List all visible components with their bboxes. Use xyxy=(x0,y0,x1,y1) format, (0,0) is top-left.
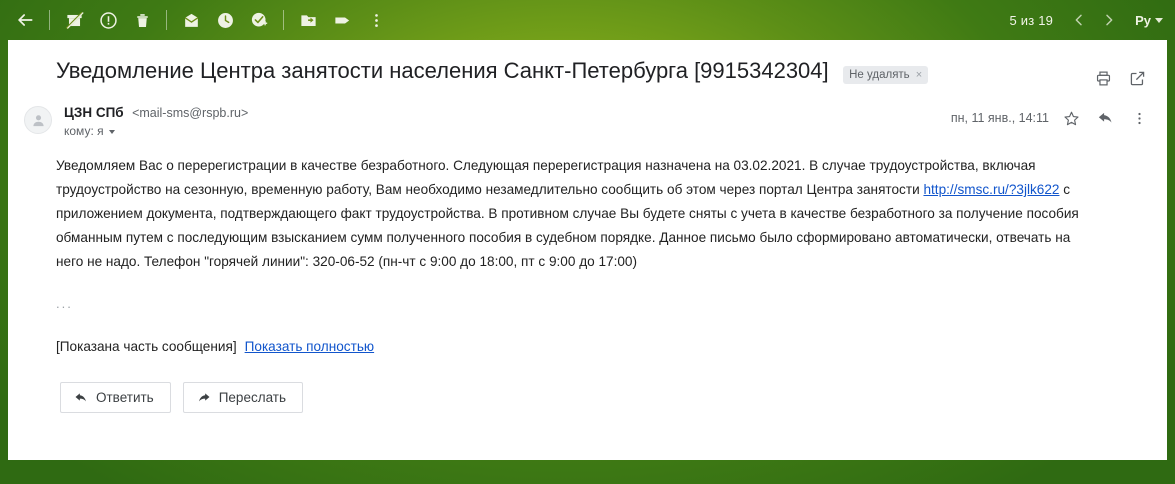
toolbar-divider-1 xyxy=(49,10,50,30)
message-meta: пн, 11 янв., 14:11 xyxy=(951,104,1151,130)
message-body: Уведомляем Вас о перерегистрации в качес… xyxy=(8,140,1128,274)
body-link[interactable]: http://smsc.ru/?3jlk622 xyxy=(923,182,1059,197)
forward-button[interactable]: Переслать xyxy=(183,382,303,413)
ellipsis-label: ... xyxy=(56,296,73,311)
printer-icon xyxy=(1095,70,1112,87)
quoted-text-ellipsis[interactable]: ... xyxy=(8,274,1167,311)
exclamation-circle-icon xyxy=(99,11,118,30)
message-date: пн, 11 янв., 14:11 xyxy=(951,111,1049,125)
reply-button[interactable]: Ответить xyxy=(60,382,171,413)
report-spam-button[interactable] xyxy=(91,3,125,37)
chevron-right-icon xyxy=(1101,12,1117,28)
close-icon[interactable]: × xyxy=(916,69,922,81)
envelope-icon xyxy=(182,11,201,30)
archive-slash-icon xyxy=(65,11,84,30)
print-button[interactable] xyxy=(1089,64,1117,92)
truncated-notice: [Показана часть сообщения] xyxy=(56,339,237,354)
sender-info: ЦЗН СПб <mail-sms@rspb.ru> кому: я xyxy=(64,104,248,140)
chevron-left-icon xyxy=(1071,12,1087,28)
chevron-down-icon xyxy=(1155,18,1163,23)
language-selector[interactable]: Ру xyxy=(1135,13,1163,28)
subject-actions xyxy=(1089,56,1151,92)
reply-arrow-icon xyxy=(74,391,88,405)
reply-button-icon[interactable] xyxy=(1093,106,1117,130)
body-text-part-1: Уведомляем Вас о перерегистрации в качес… xyxy=(56,158,1036,197)
dots-vertical-icon xyxy=(367,11,386,30)
arrow-left-icon xyxy=(15,10,35,30)
sender-email: <mail-sms@rspb.ru> xyxy=(132,106,248,120)
mail-toolbar: 5 из 19 Ру xyxy=(0,0,1175,40)
recipient-label: кому: я xyxy=(64,123,104,140)
snooze-button[interactable] xyxy=(208,3,242,37)
chevron-down-icon xyxy=(109,130,115,134)
mark-unread-button[interactable] xyxy=(174,3,208,37)
truncated-notice-row: [Показана часть сообщения]Показать полно… xyxy=(8,311,1167,354)
message-action-buttons: Ответить Переслать xyxy=(8,354,1167,413)
star-button[interactable] xyxy=(1059,106,1083,130)
forward-button-label: Переслать xyxy=(219,390,286,405)
sender-name: ЦЗН СПб xyxy=(64,105,124,120)
recipient-expander[interactable]: кому: я xyxy=(64,123,248,140)
check-plus-icon xyxy=(250,11,269,30)
toolbar-right-group: 5 из 19 Ру xyxy=(1010,5,1175,35)
show-full-message-link[interactable]: Показать полностью xyxy=(245,339,375,354)
toolbar-divider-3 xyxy=(283,10,284,30)
mail-reading-panel: Уведомление Центра занятости населения С… xyxy=(8,40,1167,460)
star-icon xyxy=(1063,110,1080,127)
sender-row: ЦЗН СПб <mail-sms@rspb.ru> кому: я пн, 1… xyxy=(8,92,1167,140)
label-chip-do-not-delete[interactable]: Не удалять × xyxy=(843,66,928,84)
person-icon xyxy=(30,112,47,129)
subject-wrapper: Уведомление Центра занятости населения С… xyxy=(56,56,928,86)
open-in-new-icon xyxy=(1129,70,1146,87)
clock-icon xyxy=(216,11,235,30)
tag-icon xyxy=(333,11,352,30)
trash-icon xyxy=(133,11,152,30)
open-in-new-window-button[interactable] xyxy=(1123,64,1151,92)
message-counter: 5 из 19 xyxy=(1010,13,1054,28)
subject-row: Уведомление Центра занятости населения С… xyxy=(8,40,1167,92)
language-label: Ру xyxy=(1135,13,1151,28)
toolbar-divider-2 xyxy=(166,10,167,30)
reply-button-label: Ответить xyxy=(96,390,154,405)
delete-button[interactable] xyxy=(125,3,159,37)
label-chip-text: Не удалять xyxy=(849,69,910,81)
archive-button[interactable] xyxy=(57,3,91,37)
forward-arrow-icon xyxy=(197,391,211,405)
toolbar-left-group xyxy=(0,3,393,37)
message-more-button[interactable] xyxy=(1127,106,1151,130)
page-title: Уведомление Центра занятости населения С… xyxy=(56,58,829,83)
reply-arrow-icon xyxy=(1097,110,1114,127)
add-to-tasks-button[interactable] xyxy=(242,3,276,37)
back-to-inbox-button[interactable] xyxy=(8,3,42,37)
dots-vertical-icon xyxy=(1131,110,1148,127)
labels-button[interactable] xyxy=(325,3,359,37)
folder-arrow-icon xyxy=(299,11,318,30)
toolbar-more-button[interactable] xyxy=(359,3,393,37)
avatar xyxy=(24,106,52,134)
sender-line: ЦЗН СПб <mail-sms@rspb.ru> xyxy=(64,104,248,122)
desktop-wallpaper-bottom xyxy=(0,460,1175,484)
move-to-button[interactable] xyxy=(291,3,325,37)
previous-message-button[interactable] xyxy=(1065,5,1093,35)
next-message-button[interactable] xyxy=(1095,5,1123,35)
